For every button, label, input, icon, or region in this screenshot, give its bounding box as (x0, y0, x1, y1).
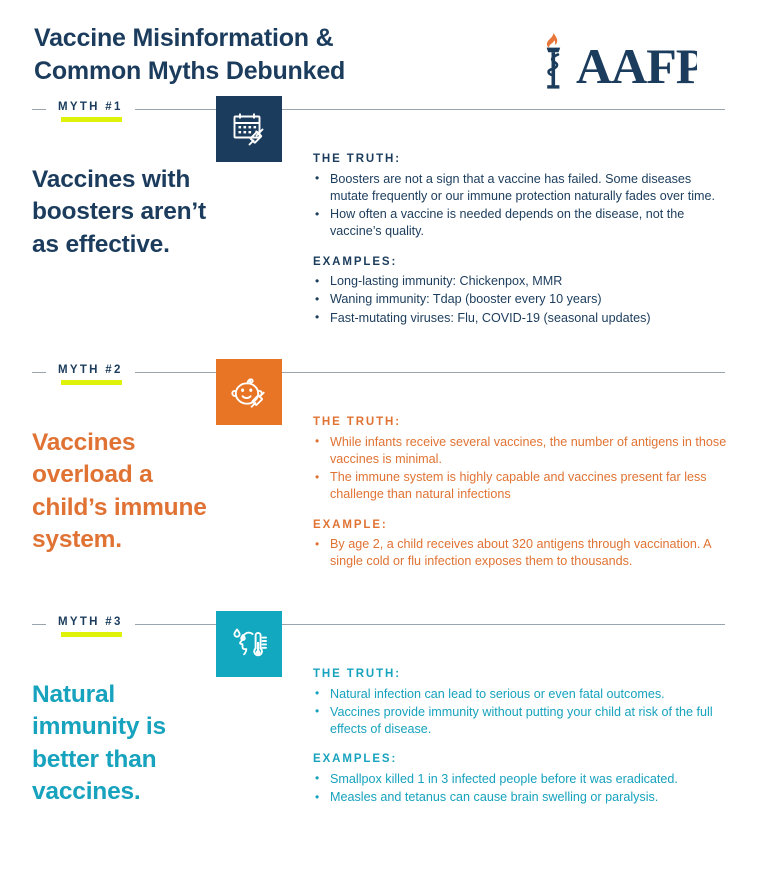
aafp-torch-logo: AAFP (532, 30, 697, 92)
page-title-line-1: Vaccine Misinformation & (34, 24, 333, 52)
divider-dash-left (32, 109, 46, 110)
calendar-syringe-icon (229, 109, 269, 149)
spacer (313, 739, 731, 754)
truth-label: THE TRUTH: (313, 154, 731, 166)
myth-label-underline (61, 380, 122, 385)
list-item: How often a vaccine is needed depends on… (313, 206, 731, 241)
myth-icon-tile-1 (216, 96, 282, 162)
page-title: Vaccine Misinformation & Common Myths De… (32, 22, 345, 89)
truth-list: Boosters are not a sign that a vaccine h… (313, 171, 731, 241)
examples-list: Smallpox killed 1 in 3 infected people b… (313, 771, 731, 807)
examples-label: EXAMPLES: (313, 257, 731, 269)
myth-label-underline (61, 117, 122, 122)
fever-face-thermometer-icon (229, 624, 269, 664)
myth-headline-1: Vaccines with boosters aren’t as effecti… (32, 164, 222, 261)
divider-dash-left (32, 624, 46, 625)
examples-list: Long-lasting immunity: Chickenpox, MMR W… (313, 273, 731, 327)
myth-icon-tile-3 (216, 611, 282, 677)
myth-headline-3: Natural immunity is better than vaccines… (32, 679, 222, 808)
myth-label: MYTH #3 (58, 617, 123, 629)
list-item: By age 2, a child receives about 320 ant… (313, 536, 731, 571)
spacer (313, 505, 731, 520)
page-title-line-2: Common Myths Debunked (34, 55, 345, 88)
myth-body-3: THE TRUTH: Natural infection can lead to… (313, 669, 731, 807)
myth-section-2: MYTH #2 (0, 359, 757, 611)
myth-icon-tile-2 (216, 359, 282, 425)
list-item: Vaccines provide immunity without puttin… (313, 704, 731, 739)
divider-dash-left (32, 372, 46, 373)
myth-divider-1: MYTH #1 (32, 108, 725, 110)
truth-label: THE TRUTH: (313, 417, 731, 429)
myth-label-wrap: MYTH #2 (58, 366, 123, 378)
list-item: Fast-mutating viruses: Flu, COVID-19 (se… (313, 310, 731, 327)
aafp-logo: AAFP (532, 30, 697, 92)
list-item: Waning immunity: Tdap (booster every 10 … (313, 291, 731, 308)
list-item: Long-lasting immunity: Chickenpox, MMR (313, 273, 731, 290)
truth-list: While infants receive several vaccines, … (313, 434, 731, 504)
myth-label: MYTH #2 (58, 365, 123, 377)
myth-section-1: MYTH #1 (0, 96, 757, 359)
myth-divider-3: MYTH #3 (32, 623, 725, 625)
list-item: The immune system is highly capable and … (313, 469, 731, 504)
myth-body-2: THE TRUTH: While infants receive several… (313, 417, 731, 572)
myth-body-1: THE TRUTH: Boosters are not a sign that … (313, 154, 731, 328)
svg-text:AAFP: AAFP (576, 38, 697, 92)
spacer (313, 242, 731, 257)
list-item: Natural infection can lead to serious or… (313, 686, 731, 703)
list-item: Boosters are not a sign that a vaccine h… (313, 171, 731, 206)
myth-label-wrap: MYTH #1 (58, 103, 123, 115)
list-item: While infants receive several vaccines, … (313, 434, 731, 469)
myth-divider-2: MYTH #2 (32, 371, 725, 373)
page-header: Vaccine Misinformation & Common Myths De… (0, 0, 757, 96)
list-item: Smallpox killed 1 in 3 infected people b… (313, 771, 731, 788)
baby-syringe-icon (229, 372, 269, 412)
myth-label-underline (61, 632, 122, 637)
examples-label: EXAMPLES: (313, 754, 731, 766)
myth-headline-2: Vaccines overload a child’s immune syste… (32, 427, 222, 556)
list-item: Measles and tetanus can cause brain swel… (313, 789, 731, 806)
myth-section-3: MYTH #3 (0, 611, 757, 851)
myth-label: MYTH #1 (58, 102, 123, 114)
truth-list: Natural infection can lead to serious or… (313, 686, 731, 739)
truth-label: THE TRUTH: (313, 669, 731, 681)
myth-label-wrap: MYTH #3 (58, 618, 123, 630)
example-list: By age 2, a child receives about 320 ant… (313, 536, 731, 571)
example-label: EXAMPLE: (313, 520, 731, 532)
